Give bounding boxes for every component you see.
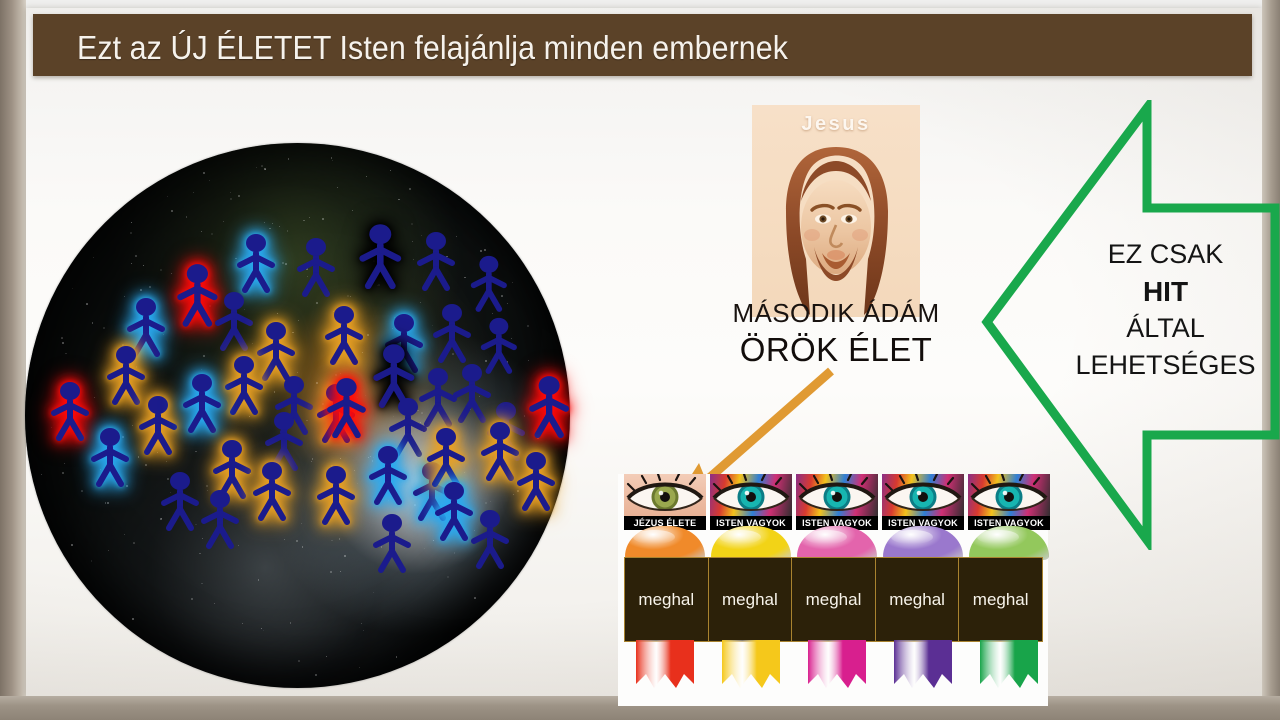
stick-figure xyxy=(179,371,225,433)
jesus-caption-eternal-life: ÖRÖK ÉLET xyxy=(700,331,972,369)
stick-figure xyxy=(135,393,181,455)
meghal-cell: meghal xyxy=(624,557,709,642)
natural-eye-icon xyxy=(624,474,706,519)
eye-cell: ISTEN VAGYOK xyxy=(710,474,792,530)
jesus-heading: Jesus xyxy=(752,113,920,136)
stick-figure xyxy=(233,231,279,293)
stick-figure xyxy=(365,443,411,505)
color-blob xyxy=(711,526,791,560)
eye-cell: ISTEN VAGYOK xyxy=(796,474,878,530)
green-text-line2: HIT xyxy=(1058,273,1273,310)
stick-figure xyxy=(293,235,339,297)
rainbow-eye-icon xyxy=(710,474,792,519)
eye-cell: JÉZUS ÉLETE xyxy=(624,474,706,530)
stick-figure xyxy=(221,353,267,415)
stick-figure xyxy=(197,487,243,549)
meghal-cell: meghal xyxy=(958,557,1043,642)
ribbon-tail xyxy=(806,640,868,696)
stick-figure xyxy=(323,375,370,438)
ribbon-tail xyxy=(720,640,782,696)
stick-figure xyxy=(313,463,359,525)
ribbon-tail xyxy=(634,640,696,696)
meghal-cell: meghal xyxy=(708,557,793,642)
color-blob xyxy=(969,526,1049,560)
stick-figure xyxy=(525,373,573,438)
stick-figure xyxy=(429,301,475,363)
green-arrow-text: EZ CSAK HIT ÁLTAL LEHETSÉGES xyxy=(1058,236,1273,384)
page-gutter-left xyxy=(0,0,26,720)
jesus-face-illustration xyxy=(766,139,906,317)
eye-cell: ISTEN VAGYOK xyxy=(882,474,964,530)
green-text-line3: ÁLTAL xyxy=(1058,310,1273,347)
color-blob xyxy=(883,526,963,560)
stick-figure xyxy=(369,511,415,573)
stick-figure xyxy=(423,425,469,487)
stick-figure xyxy=(87,425,133,487)
green-text-line4: LEHETSÉGES xyxy=(1058,347,1273,384)
title-banner: Ezt az ÚJ ÉLETET Isten felajánlja minden… xyxy=(33,14,1252,76)
stick-figure xyxy=(513,449,559,511)
stick-figure xyxy=(413,229,459,291)
jesus-portrait-card: Jesus xyxy=(752,105,920,317)
life-death-table: JÉZUS ÉLETE ISTEN VAGYOK xyxy=(618,474,1048,706)
meghal-cell: meghal xyxy=(791,557,876,642)
ribbon-tail xyxy=(892,640,954,696)
rainbow-eye-icon xyxy=(796,474,878,519)
stick-figure xyxy=(467,507,513,569)
rainbow-eye-icon xyxy=(968,474,1050,519)
meghal-cell: meghal xyxy=(875,557,960,642)
stick-figure xyxy=(211,289,257,351)
eye-cell: ISTEN VAGYOK xyxy=(968,474,1050,530)
page-title: Ezt az ÚJ ÉLETET Isten felajánlja minden… xyxy=(77,30,788,66)
ribbon-tail xyxy=(978,640,1040,696)
stick-figure xyxy=(355,221,406,289)
jesus-caption-second-adam: MÁSODIK ÁDÁM xyxy=(700,298,972,329)
eye-header-row: JÉZUS ÉLETE ISTEN VAGYOK xyxy=(618,474,1048,530)
globe-illustration xyxy=(25,143,570,688)
color-blob xyxy=(797,526,877,560)
stick-figure xyxy=(249,459,295,521)
meghal-row: meghalmeghalmeghalmeghalmeghal xyxy=(625,557,1043,642)
color-blob xyxy=(625,526,705,560)
green-text-line1: EZ CSAK xyxy=(1058,236,1273,273)
rainbow-eye-icon xyxy=(882,474,964,519)
slide-canvas: Ezt az ÚJ ÉLETET Isten felajánlja minden… xyxy=(0,0,1280,720)
stick-figure xyxy=(321,303,367,365)
